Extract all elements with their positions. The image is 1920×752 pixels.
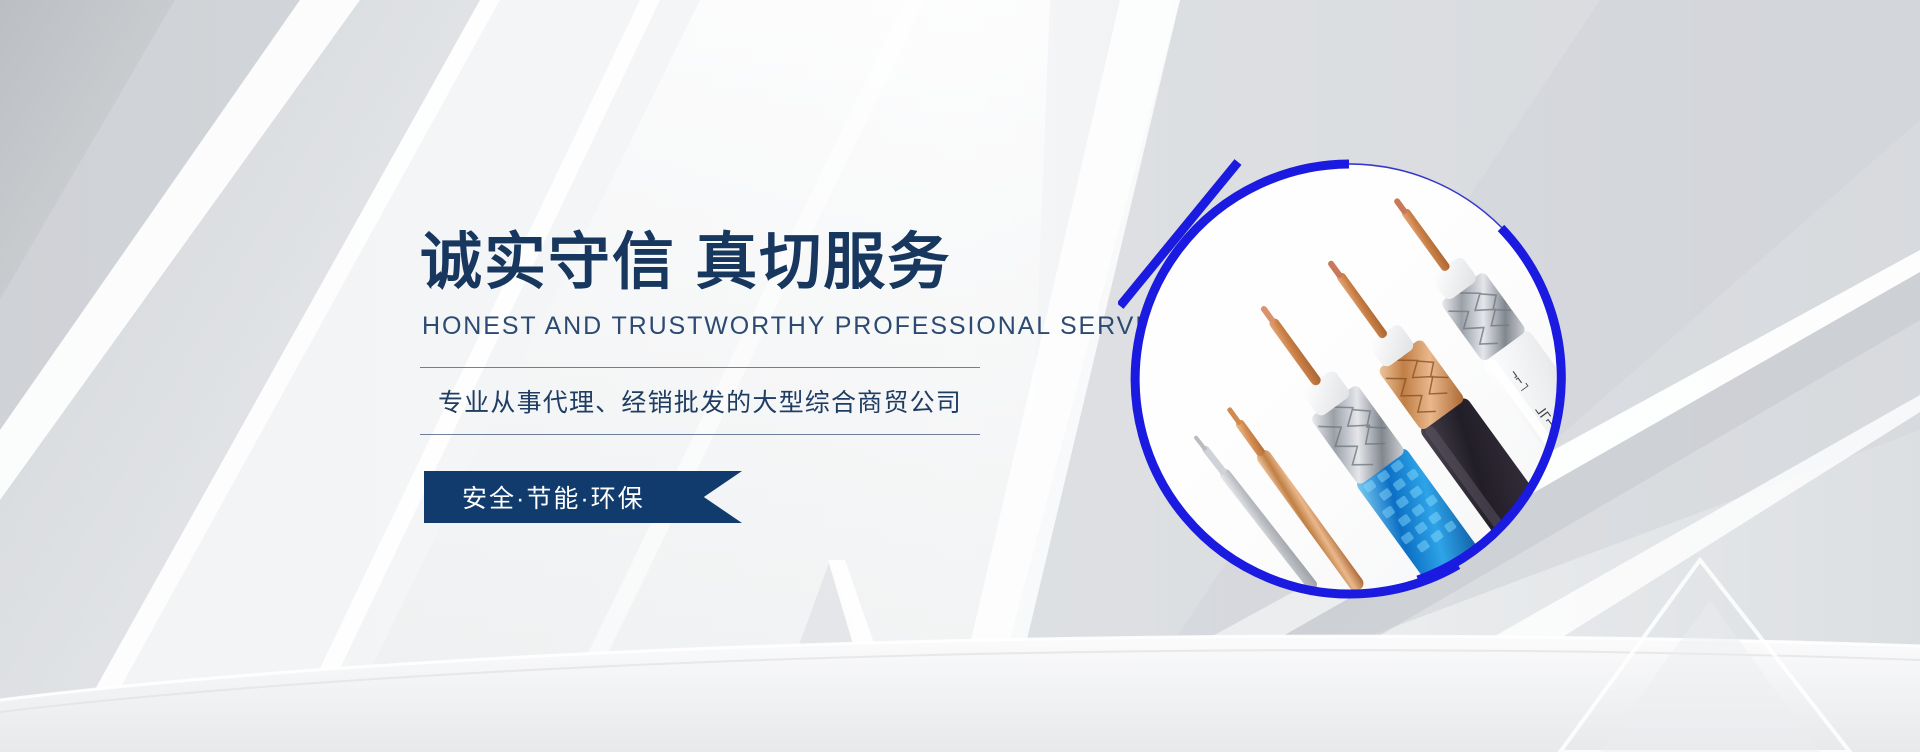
subtitle-english: HONEST AND TRUSTWORTHY PROFESSIONAL SERV… [422,312,1060,341]
ribbon-label: 安全·节能·环保 [424,479,645,515]
page-title: 诚实守信 真切服务 [420,232,1060,294]
divider-top [420,367,980,368]
product-medallion: ¬⌐˥ ᒧᒥ⌐ ⌐ᒣ˥ [1118,148,1580,610]
headline-block: 诚实守信 真切服务 HONEST AND TRUSTWORTHY PROFESS… [420,232,1060,523]
feature-ribbon: 安全·节能·环保 [424,471,742,523]
tagline-chinese: 专业从事代理、经销批发的大型综合商贸公司 [420,368,980,434]
blue-accent-ring [1118,148,1580,610]
tagline-group: 专业从事代理、经销批发的大型综合商贸公司 [420,367,980,435]
divider-bottom [420,434,980,435]
promotional-banner: 诚实守信 真切服务 HONEST AND TRUSTWORTHY PROFESS… [0,0,1920,752]
